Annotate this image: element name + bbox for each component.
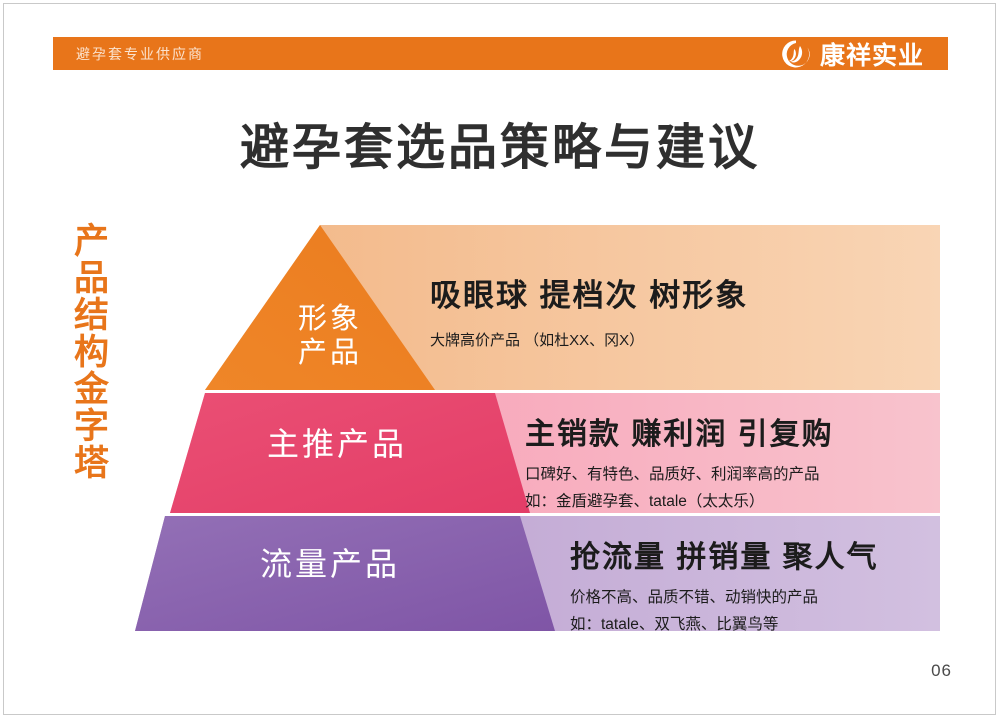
tier-3-copy: 抢流量 拼销量 聚人气 价格不高、品质不错、动销快的产品 如：tatale、双飞… — [570, 532, 879, 638]
page-title: 避孕套选品策略与建议 — [0, 108, 1000, 179]
tier-2-subline-2: 如：金盾避孕套、tatale（太太乐） — [525, 488, 834, 515]
tier-3-headline: 抢流量 拼销量 聚人气 — [570, 532, 879, 576]
brand-logo-block: 康祥实业 — [781, 36, 924, 72]
pyramid-tier-traffic-products: 流量产品 抢流量 拼销量 聚人气 价格不高、品质不错、动销快的产品 如：tata… — [135, 516, 940, 631]
tier-1-subline-1: 大牌高价产品 （如杜XX、冈X） — [430, 329, 748, 350]
page-number: 06 — [931, 661, 952, 681]
tier-1-copy: 吸眼球 提档次 树形象 大牌高价产品 （如杜XX、冈X） — [430, 270, 748, 350]
tier-2-copy: 主销款 赚利润 引复购 口碑好、有特色、品质好、利润率高的产品 如：金盾避孕套、… — [525, 409, 834, 515]
header-tagline: 避孕套专业供应商 — [76, 44, 204, 64]
tier-2-label: 主推产品 — [222, 426, 452, 463]
pyramid-tier-image-products: 形象 产品 吸眼球 提档次 树形象 大牌高价产品 （如杜XX、冈X） — [205, 225, 940, 390]
tier-3-subline-2: 如：tatale、双飞燕、比翼鸟等 — [570, 611, 879, 638]
tier-3-label: 流量产品 — [215, 546, 445, 583]
slide-canvas: 避孕套专业供应商 康祥实业 避孕套选品策略与建议 产品结构金字塔 — [0, 0, 1000, 719]
header-bar: 避孕套专业供应商 康祥实业 — [53, 37, 948, 70]
brand-name: 康祥实业 — [820, 36, 924, 72]
tier-1-shape — [205, 225, 940, 390]
swirl-flame-logo-icon — [781, 39, 811, 69]
tier-1-label: 形象 产品 — [275, 303, 385, 370]
tier-3-subline-1: 价格不高、品质不错、动销快的产品 — [570, 584, 879, 611]
tier-3-shape — [135, 516, 940, 631]
vertical-section-caption: 产品结构金字塔 — [60, 222, 108, 481]
tier-1-headline: 吸眼球 提档次 树形象 — [430, 270, 748, 315]
tier-2-subline-1: 口碑好、有特色、品质好、利润率高的产品 — [525, 461, 834, 488]
pyramid-tier-main-push-products: 主推产品 主销款 赚利润 引复购 口碑好、有特色、品质好、利润率高的产品 如：金… — [170, 393, 940, 513]
tier-2-headline: 主销款 赚利润 引复购 — [525, 409, 834, 453]
tier-2-shape — [170, 393, 940, 513]
